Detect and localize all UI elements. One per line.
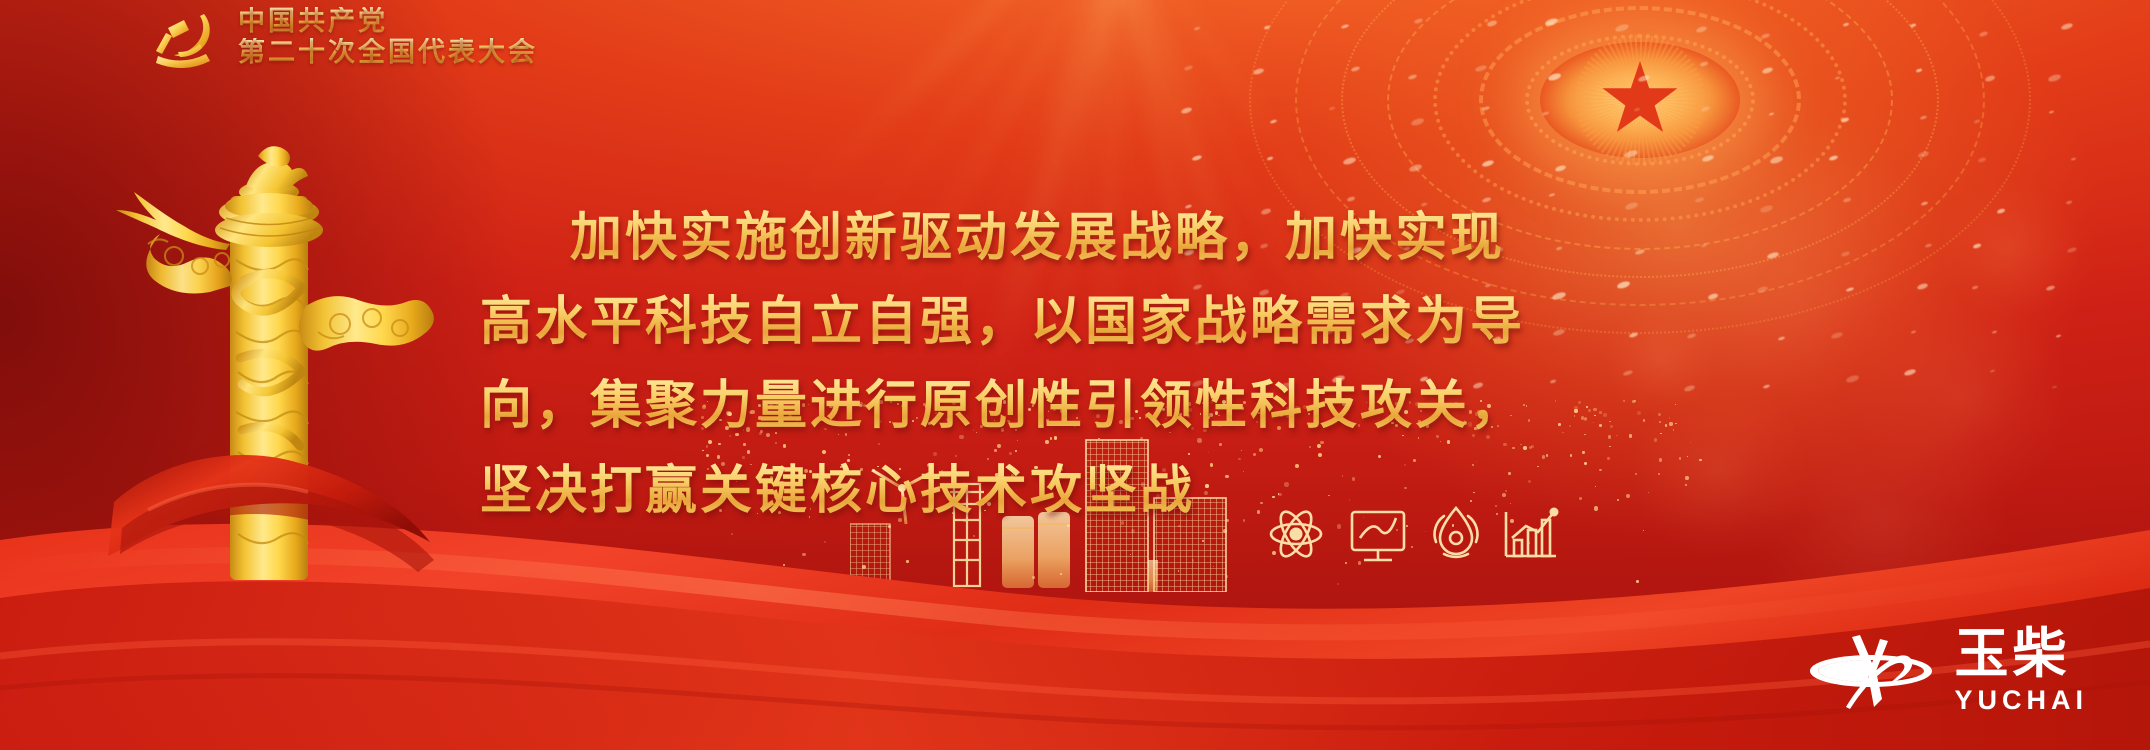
- party-logo-line2: 第二十次全国代表大会: [238, 38, 538, 67]
- yuchai-name-en: YUCHAI: [1954, 687, 2088, 714]
- party-congress-logo: 中国共产党 第二十次全国代表大会: [150, 6, 538, 68]
- yuchai-wordmark: 玉柴 YUCHAI: [1954, 627, 2088, 714]
- hammer-and-sickle-emblem: [150, 6, 224, 68]
- slogan-line-4: 坚决打赢关键核心技术攻坚战: [480, 449, 1720, 533]
- slogan-line-2: 高水平科技自立自强，以国家战略需求为导: [480, 280, 1720, 364]
- slogan-line-3: 向，集聚力量进行原创性引领性科技攻关，: [480, 364, 1720, 448]
- yuchai-swoosh-mark: [1806, 629, 1936, 713]
- party-logo-line1: 中国共产党: [238, 7, 538, 36]
- yuchai-name-cn: 玉柴: [1954, 627, 2070, 681]
- party-logo-text: 中国共产党 第二十次全国代表大会: [238, 7, 538, 67]
- yuchai-logo: 玉柴 YUCHAI: [1806, 627, 2088, 714]
- slogan-line-1: 加快实施创新驱动发展战略，加快实现: [480, 196, 1720, 280]
- banner-root: 中国共产党 第二十次全国代表大会 加快实施创新驱动发展战略，加快实现 高水平科技…: [0, 0, 2150, 750]
- slogan-block: 加快实施创新驱动发展战略，加快实现 高水平科技自立自强，以国家战略需求为导 向，…: [480, 196, 1720, 533]
